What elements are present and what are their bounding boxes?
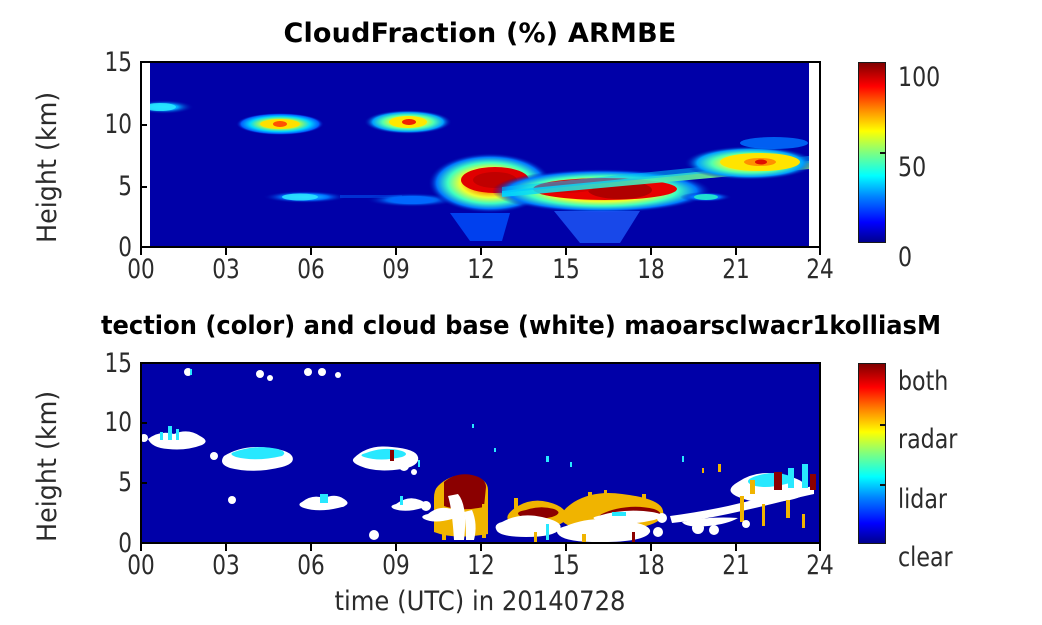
bottom-colorbar-label-radar: radar <box>898 424 957 455</box>
bottom-xticklabel-9: 09 <box>372 550 420 581</box>
top-xticklabel-6: 06 <box>287 254 335 285</box>
bottom-panel-mask <box>142 364 819 542</box>
bottom-yticklabel-15: 15 <box>97 348 132 379</box>
top-panel-contours <box>150 63 809 246</box>
top-panel-ylabel: Height (km) <box>32 92 63 243</box>
bottom-panel-title: tection (color) and cloud base (white) m… <box>0 311 1042 341</box>
bottom-xticklabel-24: 24 <box>796 550 844 581</box>
top-xticklabel-15: 15 <box>542 254 590 285</box>
figure-xlabel: time (UTC) in 20140728 <box>165 586 795 617</box>
bottom-xticklabel-15: 15 <box>542 550 590 581</box>
top-ytick-10 <box>140 124 147 126</box>
top-xticklabel-18: 18 <box>627 254 675 285</box>
bottom-xticklabel-12: 12 <box>457 550 505 581</box>
top-xticklabel-9: 09 <box>372 254 420 285</box>
top-colorbar-tick-50 <box>880 152 886 154</box>
bottom-xticklabel-21: 21 <box>712 550 760 581</box>
top-xticklabel-12: 12 <box>457 254 505 285</box>
top-colorbar-label-0: 0 <box>898 242 912 273</box>
bottom-colorbar-tick-lidar <box>880 484 886 486</box>
top-yticklabel-5: 5 <box>97 171 132 202</box>
top-yticklabel-15: 15 <box>97 47 132 78</box>
top-panel-title: CloudFraction (%) ARMBE <box>0 18 960 49</box>
bottom-ytick-10 <box>140 422 147 424</box>
bottom-ytick-5 <box>140 482 147 484</box>
bottom-colorbar <box>858 363 886 544</box>
top-xticklabel-3: 03 <box>202 254 250 285</box>
bottom-yticklabel-5: 5 <box>97 467 132 498</box>
bottom-xticklabel-6: 06 <box>287 550 335 581</box>
bottom-yticklabel-0: 0 <box>97 528 132 559</box>
bottom-yticklabel-10: 10 <box>97 407 132 438</box>
bottom-panel-plot <box>142 364 819 542</box>
bottom-colorbar-label-both: both <box>898 366 948 397</box>
top-yticklabel-10: 10 <box>97 109 132 140</box>
top-panel-plot <box>150 63 809 246</box>
top-xticklabel-24: 24 <box>796 254 844 285</box>
top-colorbar-label-50: 50 <box>898 152 926 183</box>
bottom-panel-ylabel: Height (km) <box>32 391 63 542</box>
top-yticklabel-0: 0 <box>97 232 132 263</box>
bottom-colorbar-label-lidar: lidar <box>898 484 947 515</box>
top-xticklabel-21: 21 <box>712 254 760 285</box>
top-ytick-5 <box>140 186 147 188</box>
bottom-xticklabel-3: 03 <box>202 550 250 581</box>
top-colorbar-label-100: 100 <box>898 62 940 93</box>
bottom-xticklabel-18: 18 <box>627 550 675 581</box>
bottom-colorbar-label-clear: clear <box>898 542 953 573</box>
bottom-colorbar-tick-radar <box>880 424 886 426</box>
